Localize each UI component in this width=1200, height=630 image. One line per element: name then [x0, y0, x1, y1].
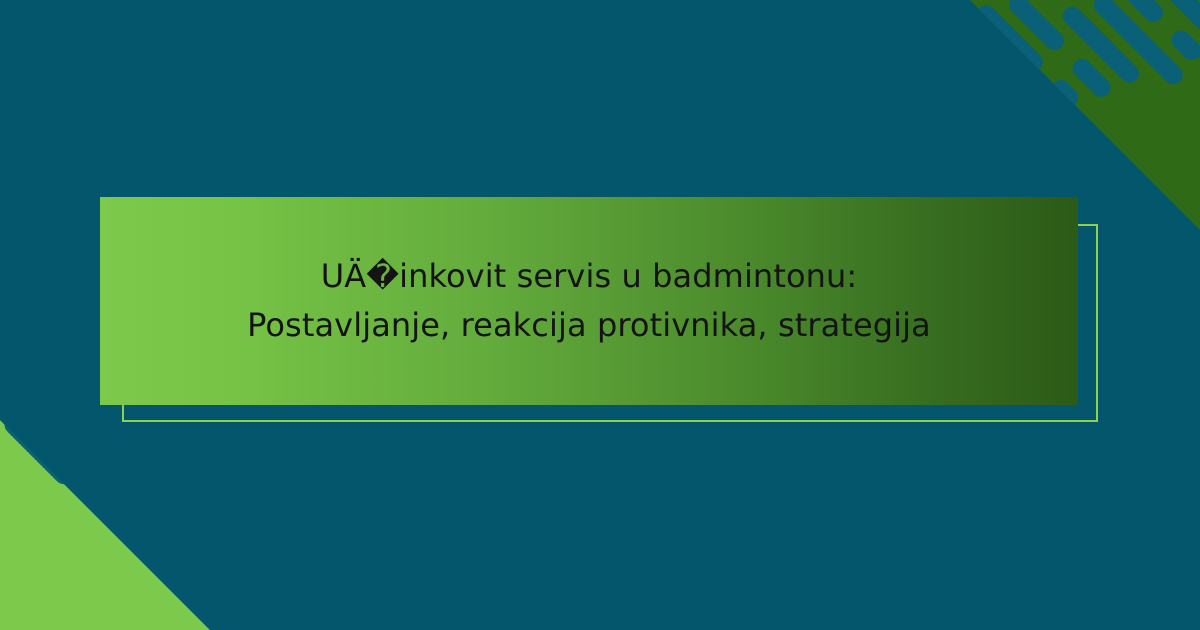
title-line-2: Postavljanje, reakcija protivnika, strat… [247, 301, 931, 350]
deco-bl-wedge [0, 420, 210, 630]
decoration-top-right [940, 0, 1200, 230]
title-card: UÄ�inkovit servis u badmintonu: Postavlj… [100, 197, 1078, 405]
deco-tr-wedge [970, 0, 1200, 230]
share-card-canvas: UÄ�inkovit servis u badmintonu: Postavlj… [0, 0, 1200, 630]
title-line-1: UÄ�inkovit servis u badmintonu: [321, 252, 858, 301]
deco-tr-capsules [940, 0, 1200, 152]
